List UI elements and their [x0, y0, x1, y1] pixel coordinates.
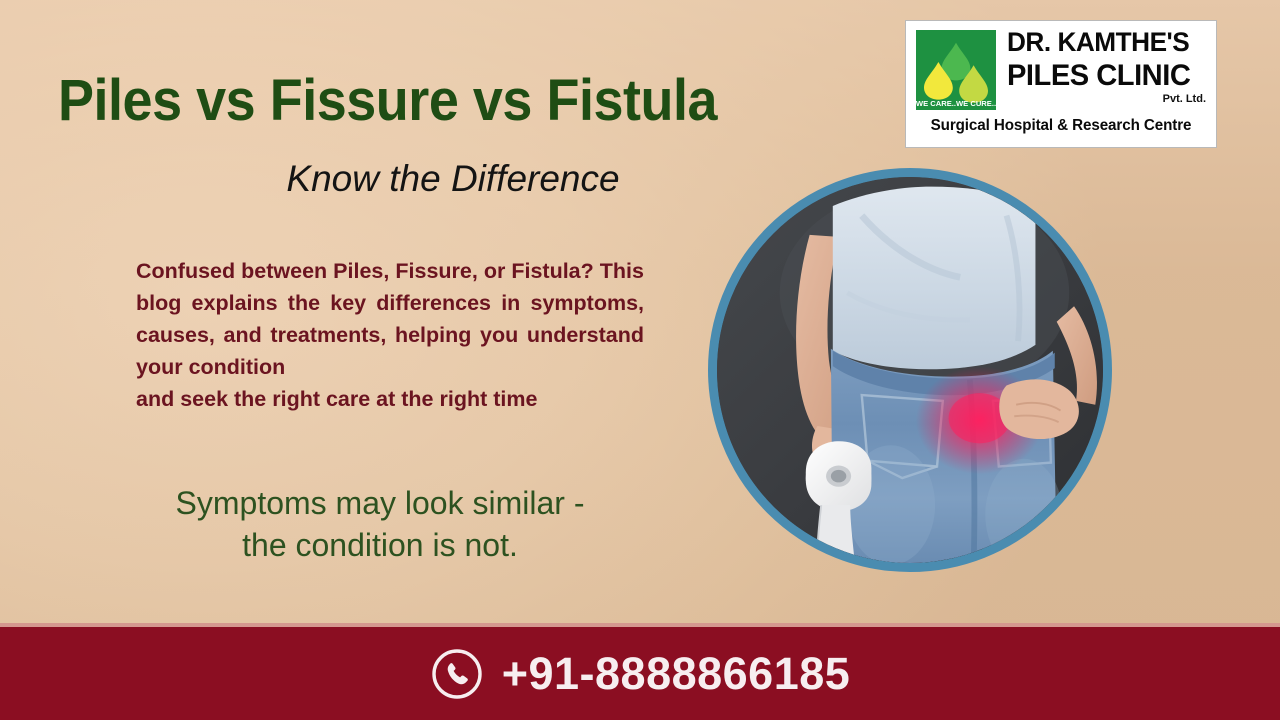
- logo-suffix: Pvt. Ltd.: [1007, 93, 1208, 105]
- patient-photo-illustration: [717, 177, 1103, 563]
- patient-photo: [708, 168, 1112, 572]
- tagline-line-1: Symptoms may look similar -: [90, 482, 670, 524]
- contact-bar: +91-8888866185: [0, 627, 1280, 720]
- promo-banner: Piles vs Fissure vs Fistula Know the Dif…: [0, 0, 1280, 720]
- clinic-logo: WE CARE..WE CURE.. DR. KAMTHE'S PILES CL…: [905, 20, 1217, 148]
- logo-line-2: PILES CLINIC: [1007, 61, 1202, 91]
- logo-wordmark: DR. KAMTHE'S PILES CLINIC Pvt. Ltd.: [1007, 28, 1208, 105]
- intro-paragraph: Confused between Piles, Fissure, or Fist…: [136, 255, 644, 415]
- logo-subtitle: Surgical Hospital & Research Centre: [917, 117, 1205, 135]
- phone-number[interactable]: +91-8888866185: [502, 651, 851, 696]
- intro-paragraph-main: Confused between Piles, Fissure, or Fist…: [136, 259, 644, 379]
- tagline-line-2: the condition is not.: [90, 524, 670, 566]
- page-title: Piles vs Fissure vs Fistula: [58, 72, 821, 130]
- patient-photo-image: [717, 177, 1103, 563]
- intro-paragraph-last-line: and seek the right care at the right tim…: [136, 383, 644, 415]
- tagline: Symptoms may look similar - the conditio…: [90, 482, 670, 566]
- logo-care-tagline: WE CARE..WE CURE..: [916, 99, 996, 108]
- logo-line-1: DR. KAMTHE'S: [1007, 29, 1202, 56]
- phone-icon[interactable]: [430, 647, 484, 701]
- page-subtitle: Know the Difference: [58, 158, 848, 200]
- three-leaves-icon: WE CARE..WE CURE..: [916, 30, 996, 110]
- logo-top-row: WE CARE..WE CURE.. DR. KAMTHE'S PILES CL…: [914, 28, 1208, 114]
- logo-emblem: WE CARE..WE CURE..: [914, 28, 998, 112]
